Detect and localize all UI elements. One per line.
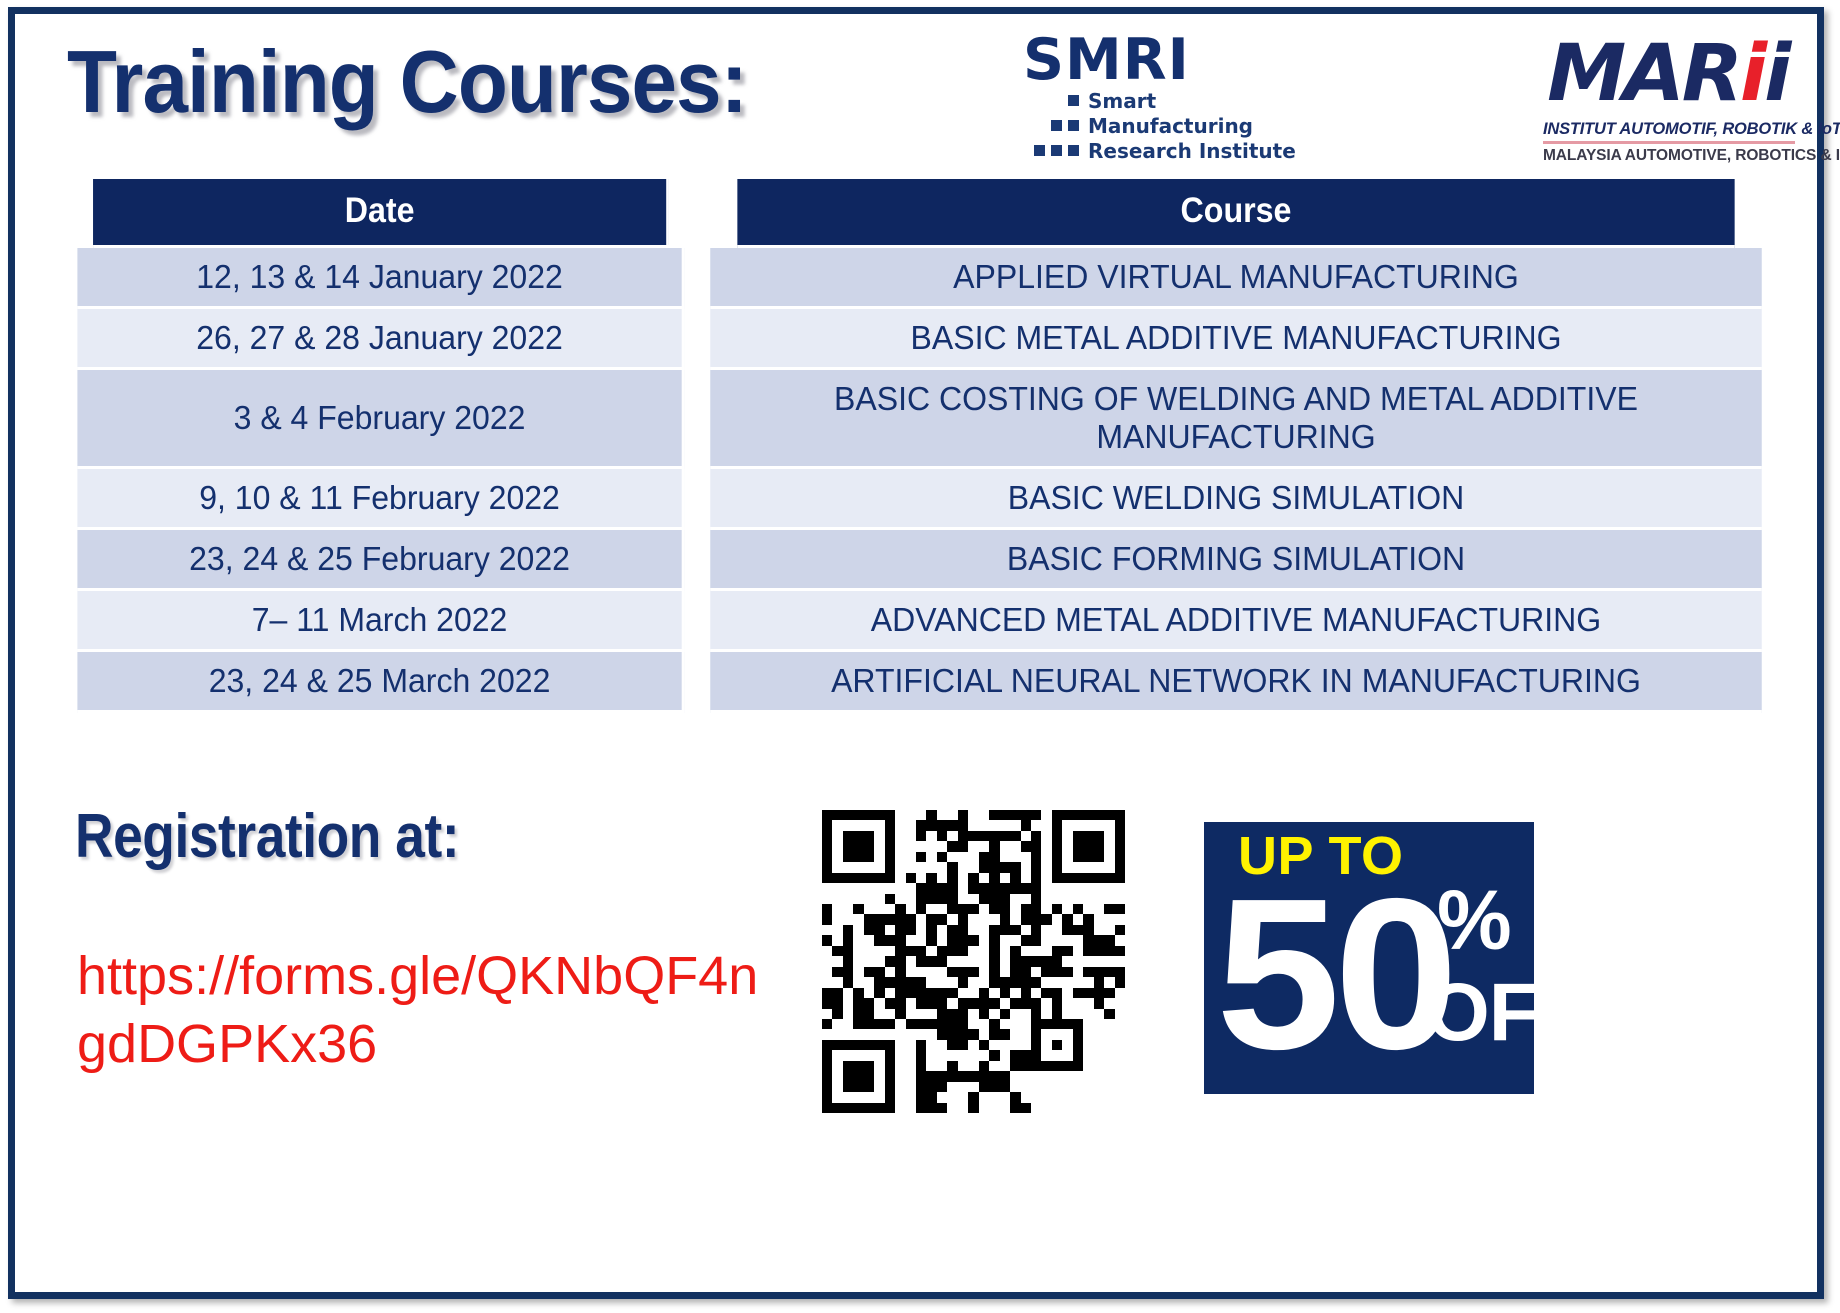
registration-url-link[interactable]: https://forms.gle/QKNbQF4ngdDGPKx36 [77,942,777,1078]
smri-label-smart: Smart [1088,89,1156,113]
smri-square-group-2 [1015,120,1079,131]
smri-line-manufacturing: Manufacturing [1015,113,1280,138]
smri-label-manufacturing: Manufacturing [1088,114,1253,138]
smri-square-group-3 [1015,145,1079,156]
table-row: 3 & 4 February 2022 BASIC COSTING OF WEL… [68,370,1778,469]
cell-date: 23, 24 & 25 February 2022 [77,530,684,591]
table-body: 12, 13 & 14 January 2022 APPLIED VIRTUAL… [68,248,1778,713]
table-row: 7– 11 March 2022 ADVANCED METAL ADDITIVE… [68,591,1778,652]
table-row: 23, 24 & 25 February 2022 BASIC FORMING … [68,530,1778,591]
column-header-course: Course [737,179,1734,248]
qr-code-modules [822,810,1125,1113]
cell-date: 3 & 4 February 2022 [77,370,684,469]
table-row: 12, 13 & 14 January 2022 APPLIED VIRTUAL… [68,248,1778,309]
smri-square-group-1 [1015,95,1079,106]
marii-text-mar: MAR [1547,29,1740,119]
table-header-row: Date Course [68,179,1778,248]
table-row: 9, 10 & 11 February 2022 BASIC WELDING S… [68,469,1778,530]
cell-date: 23, 24 & 25 March 2022 [77,652,684,713]
marii-text-i-navy: i [1764,29,1788,119]
poster-canvas: Training Courses: SMRI Smart Manufacturi… [8,7,1824,1299]
training-schedule-table: Date Course 12, 13 & 14 January 2022 APP… [68,179,1778,713]
cell-course: ARTIFICIAL NEURAL NETWORK IN MANUFACTURI… [710,652,1761,713]
table-row: 23, 24 & 25 March 2022 ARTIFICIAL NEURAL… [68,652,1778,713]
smri-line-research-institute: Research Institute [1015,138,1280,163]
badge-discount-number: 50 [1216,866,1452,1081]
smri-label-research-institute: Research Institute [1088,139,1296,163]
cell-course: BASIC FORMING SIMULATION [710,530,1761,591]
cell-date: 12, 13 & 14 January 2022 [77,248,684,309]
cell-course: APPLIED VIRTUAL MANUFACTURING [710,248,1761,309]
smri-acronym: SMRI [1023,32,1280,88]
cell-date: 26, 27 & 28 January 2022 [77,309,684,370]
registration-heading: Registration at: [75,801,459,872]
cell-date: 7– 11 March 2022 [77,591,684,652]
badge-off-label: OFF [1426,972,1534,1054]
discount-badge: UP TO 50 % OFF [1204,822,1534,1094]
marii-tagline-malay: INSTITUT AUTOMOTIF, ROBOTIK & IoT MALAYS… [1543,120,1795,144]
column-header-date: Date [93,179,669,248]
qr-code-image[interactable] [822,810,1125,1113]
marii-logo: MARii INSTITUT AUTOMOTIF, ROBOTIK & IoT … [1543,28,1795,168]
badge-percent-symbol: % [1437,878,1512,962]
marii-wordmark: MARii [1543,28,1800,120]
table-row: 26, 27 & 28 January 2022 BASIC METAL ADD… [68,309,1778,370]
cell-course: ADVANCED METAL ADDITIVE MANUFACTURING [710,591,1761,652]
cell-course: BASIC METAL ADDITIVE MANUFACTURING [710,309,1761,370]
cell-course: BASIC COSTING OF WELDING AND METAL ADDIT… [710,370,1761,469]
marii-text-i-red: i [1740,29,1764,119]
cell-course: BASIC WELDING SIMULATION [710,469,1761,530]
poster-header: Training Courses: SMRI Smart Manufacturi… [15,14,1817,182]
cell-date: 9, 10 & 11 February 2022 [77,469,684,530]
marii-tagline-english: MALAYSIA AUTOMOTIVE, ROBOTICS & IoT INST… [1543,144,1795,165]
table-header: Date Course [68,179,1778,248]
smri-logo: SMRI Smart Manufacturing Research Instit… [1015,32,1280,162]
page-title: Training Courses: [67,38,747,126]
